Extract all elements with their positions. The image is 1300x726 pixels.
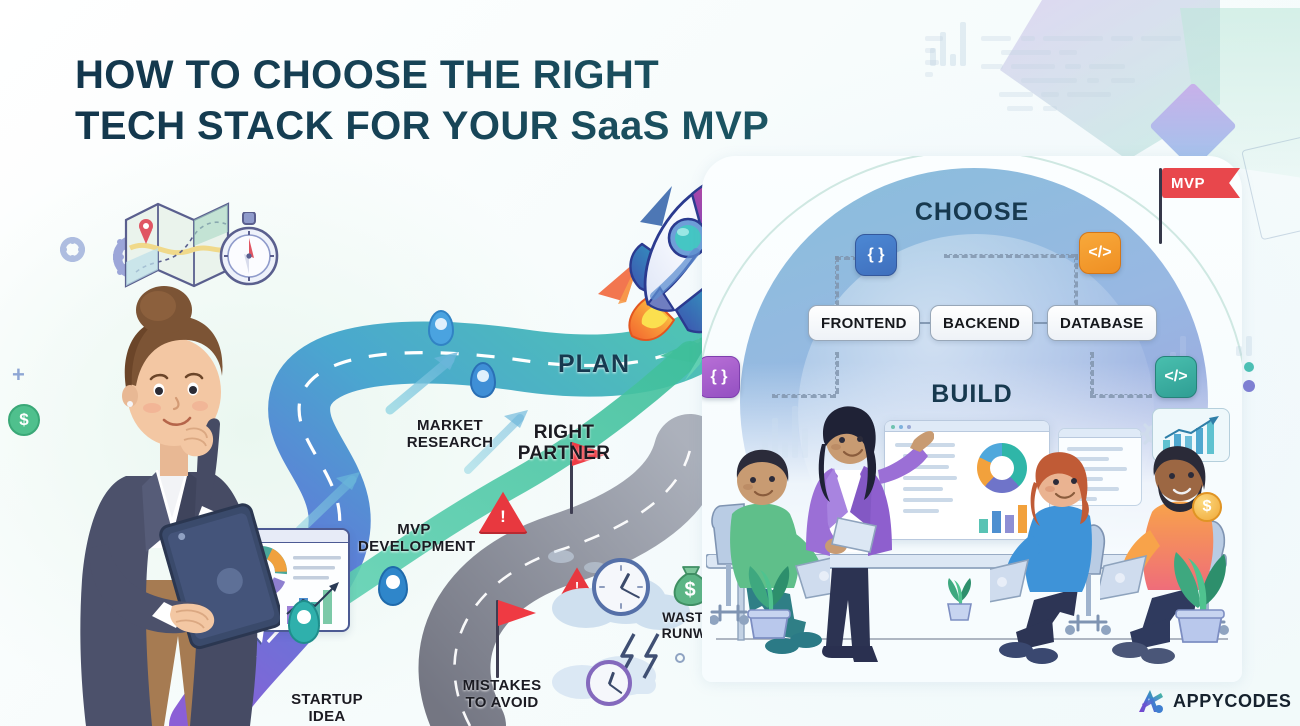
- person-avatar: [60, 280, 280, 726]
- label-mvp-development: MVP DEVELOPMENT: [358, 522, 470, 556]
- warning-triangle-icon: !: [478, 490, 528, 534]
- plant-icon: [1164, 550, 1234, 644]
- svg-text:$: $: [684, 579, 695, 601]
- gear-icon: [60, 237, 85, 262]
- brand-name: APPYCODES: [1173, 691, 1291, 712]
- dot-decor: [1243, 380, 1255, 392]
- mvp-flag: MVP: [1162, 168, 1240, 198]
- compass-icon: [216, 212, 282, 286]
- badge-glyph: </>: [1088, 244, 1111, 262]
- stack-chip-frontend[interactable]: FRONTEND: [808, 305, 920, 341]
- clock-icon: [592, 558, 650, 616]
- dollar-coin-icon: $: [8, 404, 40, 436]
- label-market-research: MARKET RESEARCH: [398, 418, 502, 452]
- chip-label: BACKEND: [943, 315, 1020, 332]
- team-member-2: [794, 400, 934, 678]
- chip-label: FRONTEND: [821, 315, 907, 332]
- plus-icon: +: [12, 362, 25, 388]
- bg-bar-chart-decor: [1236, 330, 1252, 356]
- page-title: HOW TO CHOOSE THE RIGHT TECH STACK FOR Y…: [75, 50, 865, 152]
- bg-code-text-decor: [925, 28, 1255, 128]
- label-startup-idea: STARTUP IDEA: [282, 692, 372, 726]
- bg-bar-chart-decor: [930, 20, 966, 66]
- map-pin-icon: [428, 310, 454, 346]
- title-line-1: HOW TO CHOOSE THE RIGHT: [75, 53, 659, 97]
- chip-label: DATABASE: [1060, 315, 1144, 332]
- label-mistakes-to-avoid: MISTAKES TO AVOID: [454, 678, 550, 712]
- dashed-connector: [944, 254, 1074, 258]
- stack-chip-backend[interactable]: BACKEND: [930, 305, 1033, 341]
- map-pin-icon: [288, 600, 320, 644]
- brand-logo: APPYCODES: [1138, 688, 1291, 715]
- mvp-flag-label: MVP: [1171, 175, 1205, 192]
- map-pin-icon: [470, 362, 496, 398]
- infographic-canvas: HOW TO CHOOSE THE RIGHT TECH STACK FOR Y…: [0, 0, 1300, 726]
- stack-chip-database[interactable]: DATABASE: [1047, 305, 1157, 341]
- code-badge-braces-blue: { }: [855, 234, 897, 276]
- label-right-partner: RIGHT PARTNER: [496, 422, 632, 465]
- plant-icon: [940, 578, 978, 622]
- team-illustration: [702, 382, 1242, 682]
- appycodes-logo-icon: [1138, 688, 1165, 715]
- title-line-2: TECH STACK FOR YOUR SaaS MVP: [75, 101, 865, 152]
- dot-decor: [1244, 362, 1254, 372]
- map-pin-icon: [378, 566, 408, 606]
- badge-glyph: { }: [868, 246, 885, 264]
- gold-coin-icon: $: [1192, 492, 1222, 522]
- code-badge-tag-orange: </>: [1079, 232, 1121, 274]
- plant-icon: [740, 564, 798, 640]
- clock-icon: [586, 660, 632, 706]
- mvp-flag-pole: [1159, 168, 1162, 244]
